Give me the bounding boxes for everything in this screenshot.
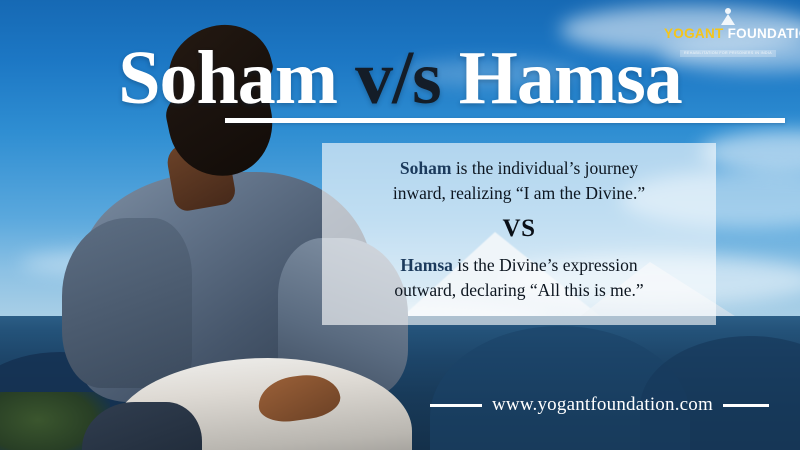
soham-term: Soham <box>400 158 452 178</box>
title-soham: Soham <box>118 36 337 120</box>
logo-tagline: REHABILITATION FOR PRISONERS IN INDIA <box>680 50 776 57</box>
left-knee <box>82 402 202 450</box>
figure-body-shape <box>721 14 735 25</box>
hamsa-description: is the Divine’s expression <box>453 255 638 275</box>
card-line-2: inward, realizing “I am the Divine.” <box>338 181 700 206</box>
poster-canvas: Soham v/s Hamsa Soham is the individual’… <box>0 0 800 450</box>
website-url[interactable]: www.yogantfoundation.com <box>492 394 713 416</box>
vs-separator: VS <box>338 211 700 247</box>
title-hamsa: Hamsa <box>459 36 682 120</box>
logo-wordmark: YOGANT FOUNDATION <box>664 27 792 41</box>
logo-name-secondary: FOUNDATION <box>724 26 800 41</box>
left-shoulder <box>62 218 192 388</box>
comparison-card: Soham is the individual’s journey inward… <box>322 143 716 325</box>
divider-dash-right <box>723 404 769 407</box>
logo-name-primary: YOGANT <box>664 26 724 41</box>
title-vs: v/s <box>355 36 441 120</box>
card-line-4: outward, declaring “All this is me.” <box>338 278 700 303</box>
title-underline <box>225 118 785 123</box>
card-line-3: Hamsa is the Divine’s expression <box>338 253 700 278</box>
hamsa-term: Hamsa <box>400 255 453 275</box>
divider-dash-left <box>430 404 482 407</box>
soham-description: is the individual’s journey <box>451 158 638 178</box>
meditating-figure-icon <box>719 8 737 26</box>
brand-logo[interactable]: YOGANT FOUNDATION REHABILITATION FOR PRI… <box>664 8 792 52</box>
footer-website: www.yogantfoundation.com <box>430 392 780 418</box>
card-line-1: Soham is the individual’s journey <box>338 156 700 181</box>
